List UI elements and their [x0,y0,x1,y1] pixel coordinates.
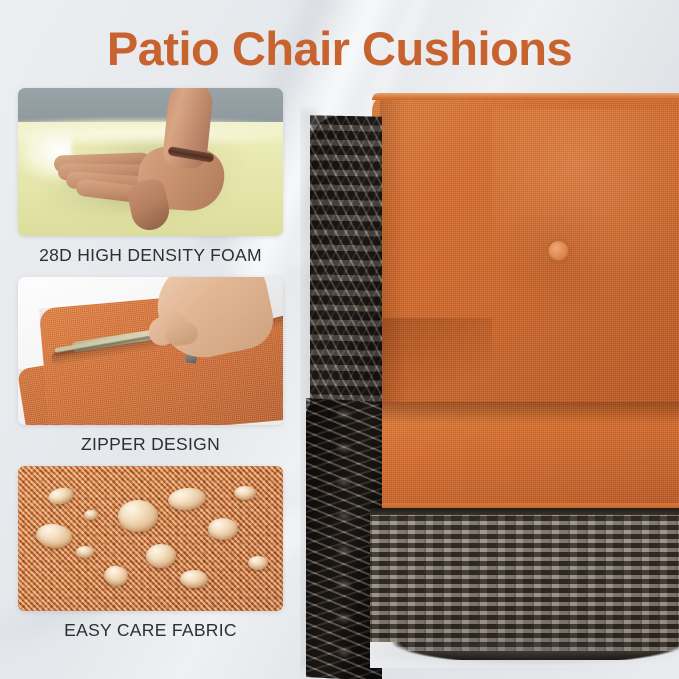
feature-panel-easy-care-fabric: EASY CARE FABRIC [18,466,283,641]
water-droplet [234,486,256,500]
feature-panel-high-density-foam: 28D HIGH DENSITY FOAM [18,88,283,266]
water-droplet [84,510,98,520]
wicker-weave-shadow [370,508,679,660]
seat-cushion [362,402,679,512]
cushion-piping [372,93,679,100]
feature-panel-zipper-design: ZIPPER DESIGN [18,277,283,455]
water-droplet [248,556,268,570]
feature-label-easy-care-fabric: EASY CARE FABRIC [18,620,283,641]
feature-label-zipper-design: ZIPPER DESIGN [18,434,283,455]
water-droplet [118,500,158,532]
water-droplet [208,518,238,540]
feature-label-high-density-foam: 28D HIGH DENSITY FOAM [18,245,283,266]
feature-image-easy-care-fabric [18,466,283,611]
feature-image-zipper-design [18,277,283,425]
page-title: Patio Chair Cushions [0,20,679,78]
wicker-rung-texture [310,115,382,417]
product-photo-patio-chair [300,80,679,679]
product-feature-image: Patio Chair Cushions 28D HIGH DENSITY FO… [0,0,679,679]
chair-floor-shadow [360,640,679,666]
seat-cushion-shadow [362,402,679,424]
wicker-arm-back [310,115,382,417]
tufted-button [548,241,569,262]
water-droplet [146,544,176,568]
wicker-base [370,508,679,660]
water-droplet [180,570,208,588]
back-cushion [372,93,679,423]
water-droplet [76,546,94,558]
feature-image-high-density-foam [18,88,283,236]
wicker-base-top-rim [370,508,679,515]
